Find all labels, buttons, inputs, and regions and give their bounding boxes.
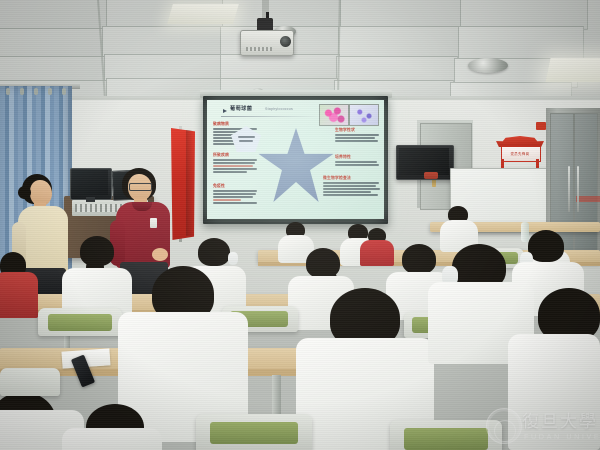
slide-title-en: Staphylococcus — [265, 107, 293, 111]
star-diagram — [257, 128, 335, 202]
face-mask — [228, 252, 238, 265]
tv-screen — [399, 148, 449, 175]
hair — [402, 244, 436, 274]
red-shirt — [0, 272, 38, 318]
glasses-icon — [129, 183, 152, 191]
chair-cushion — [404, 428, 488, 450]
slide-block-left-bottom: 免疫性 — [213, 184, 257, 204]
hair-bun — [18, 186, 31, 199]
chair-cushion — [210, 422, 298, 444]
monitor-screen — [72, 170, 108, 195]
white-coat — [62, 428, 162, 450]
water-bottle[interactable] — [521, 222, 529, 242]
slide-block-left-mid: 所致疾病 — [213, 153, 257, 173]
ceiling-light — [167, 4, 239, 24]
projected-slide: 葡萄球菌 Staphylococcus 致病物质 所致疾病 免疫性 生物学性状 — [207, 100, 384, 219]
door-handle-icon[interactable] — [577, 166, 579, 212]
fudan-seal-icon — [486, 408, 522, 444]
wall-notice-sticker — [424, 172, 438, 179]
slide-title-rule — [221, 116, 321, 117]
triangle-bullet-icon — [223, 109, 227, 113]
slide-block-right-top: 生物学性状 — [335, 128, 379, 142]
chair[interactable] — [0, 368, 60, 396]
watermark-en-text: FUDAN UNIVERSITY — [524, 432, 600, 441]
five-point-star-shape — [257, 128, 335, 202]
projector-vent — [246, 47, 272, 51]
exit-sign-icon — [536, 122, 546, 130]
micrograph-pink — [319, 104, 349, 126]
micrograph-purple — [349, 104, 379, 126]
door-handle-icon[interactable] — [568, 166, 570, 212]
door-reflection — [576, 196, 600, 202]
slide-block-right-mid: 培养特性 — [335, 155, 379, 166]
red-honor-sign: 党员先锋岗 — [496, 136, 544, 168]
slide-title-cn: 葡萄球菌 — [230, 105, 252, 112]
fudan-university-watermark: 復旦大學 FUDAN UNIVERSITY — [486, 404, 596, 448]
hair — [528, 230, 564, 262]
classroom-photo: 葡萄球菌 Staphylococcus 致病物质 所致疾病 免疫性 生物学性状 — [0, 0, 600, 450]
flag-fold-shadow — [186, 130, 193, 236]
hair — [198, 238, 230, 266]
name-badge — [150, 218, 157, 228]
chair-cushion — [48, 314, 112, 331]
seal-inner-ring — [494, 420, 516, 442]
projector-lens-icon — [280, 36, 291, 47]
red-shirt — [360, 240, 394, 266]
ceiling-light — [545, 58, 600, 82]
watermark-cn-text: 復旦大學 — [522, 407, 598, 432]
monitor-stand — [86, 197, 95, 202]
hand — [152, 248, 168, 261]
sign-text: 党员先锋岗 — [503, 149, 537, 157]
ceiling-speaker — [468, 58, 508, 73]
